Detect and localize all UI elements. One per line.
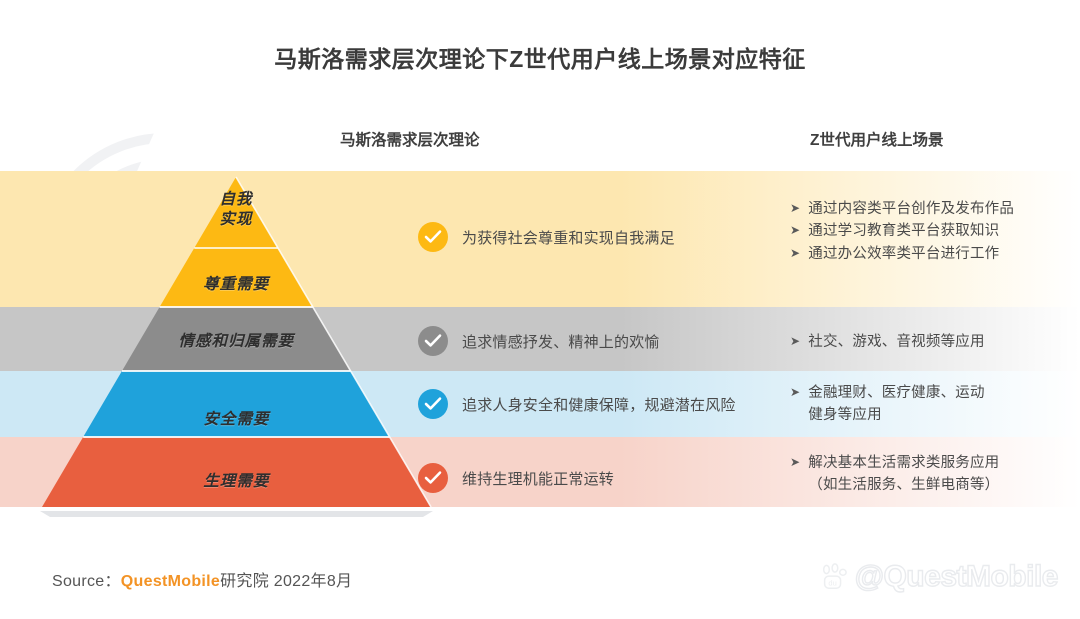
scenario-text: 通过办公效率类平台进行工作 — [808, 243, 999, 265]
maslow-pyramid — [0, 0, 1080, 619]
questmobile-watermark: du @QuestMobile — [819, 560, 1058, 594]
scenario-text: 金融理财、医疗健康、运动 健身等应用 — [808, 382, 984, 427]
column-header-theory: 马斯洛需求层次理论 — [340, 128, 480, 150]
description-text-physiological: 维持生理机能正常运转 — [462, 468, 614, 489]
source-note: Source：QuestMobile研究院 2022年8月 — [52, 567, 352, 591]
scenario-text: 通过内容类平台创作及发布作品 — [808, 198, 1014, 220]
check-icon-self-actualization — [418, 222, 448, 252]
scenario-item: ➤通过办公效率类平台进行工作 — [790, 243, 1080, 265]
watermark-label: @QuestMobile — [855, 560, 1058, 594]
bullet-arrow-icon: ➤ — [790, 220, 800, 241]
scenario-row-safety: ➤金融理财、医疗健康、运动 健身等应用 — [790, 382, 1080, 427]
bullet-arrow-icon: ➤ — [790, 382, 800, 403]
check-icon-physiological — [418, 463, 448, 493]
scenario-item: ➤社交、游戏、音视频等应用 — [790, 331, 1080, 353]
scenario-text: 通过学习教育类平台获取知识 — [808, 220, 999, 242]
description-text-self-actualization: 为获得社会尊重和实现自我满足 — [462, 227, 675, 248]
description-row-safety: 追求人身安全和健康保障，规避潜在风险 — [418, 389, 736, 419]
scenario-item: ➤通过学习教育类平台获取知识 — [790, 220, 1080, 242]
description-text-love-and-belonging: 追求情感抒发、精神上的欢愉 — [462, 331, 660, 352]
pyramid-base-shadow — [40, 511, 433, 517]
description-row-self-actualization: 为获得社会尊重和实现自我满足 — [418, 222, 675, 252]
scenario-text: 社交、游戏、音视频等应用 — [808, 331, 984, 353]
description-row-physiological: 维持生理机能正常运转 — [418, 463, 614, 493]
description-row-love-and-belonging: 追求情感抒发、精神上的欢愉 — [418, 326, 660, 356]
scenario-item: ➤通过内容类平台创作及发布作品 — [790, 198, 1080, 220]
source-suffix: 研究院 2022年8月 — [220, 573, 352, 590]
scenario-item: ➤金融理财、医疗健康、运动 健身等应用 — [790, 382, 1080, 427]
description-text-safety: 追求人身安全和健康保障，规避潜在风险 — [462, 394, 736, 415]
check-icon-safety — [418, 389, 448, 419]
scenario-row-physiological: ➤解决基本生活需求类服务应用 （如生活服务、生鲜电商等） — [790, 452, 1080, 497]
baidu-paw-icon: du — [819, 562, 849, 592]
bullet-arrow-icon: ➤ — [790, 198, 800, 219]
tier-label-physiological: 生理需要 — [136, 472, 336, 492]
tier-label-safety: 安全需要 — [136, 410, 336, 430]
bullet-arrow-icon: ➤ — [790, 243, 800, 264]
page-title: 马斯洛需求层次理论下Z世代用户线上场景对应特征 — [0, 40, 1080, 74]
tier-label-esteem: 尊重需要 — [136, 275, 336, 295]
slide-canvas: QUESTMOBILE 自我 实现尊重需要情感和归属需要安全需要生理需要 马斯洛… — [0, 0, 1080, 619]
column-header-scenarios: Z世代用户线上场景 — [810, 128, 943, 150]
tier-label-self-actualization: 自我 实现 — [136, 190, 336, 231]
bullet-arrow-icon: ➤ — [790, 331, 800, 352]
scenario-row-love-and-belonging: ➤社交、游戏、音视频等应用 — [790, 331, 1080, 353]
source-prefix: Source： — [52, 573, 121, 590]
tier-label-love-and-belonging: 情感和归属需要 — [136, 332, 336, 352]
bullet-arrow-icon: ➤ — [790, 452, 800, 473]
scenario-item: ➤解决基本生活需求类服务应用 （如生活服务、生鲜电商等） — [790, 452, 1080, 497]
scenario-text: 解决基本生活需求类服务应用 （如生活服务、生鲜电商等） — [808, 452, 999, 497]
source-brand: QuestMobile — [121, 573, 220, 590]
scenario-row-self-actualization: ➤通过内容类平台创作及发布作品➤通过学习教育类平台获取知识➤通过办公效率类平台进… — [790, 198, 1080, 265]
check-icon-love-and-belonging — [418, 326, 448, 356]
svg-text:du: du — [828, 578, 836, 587]
